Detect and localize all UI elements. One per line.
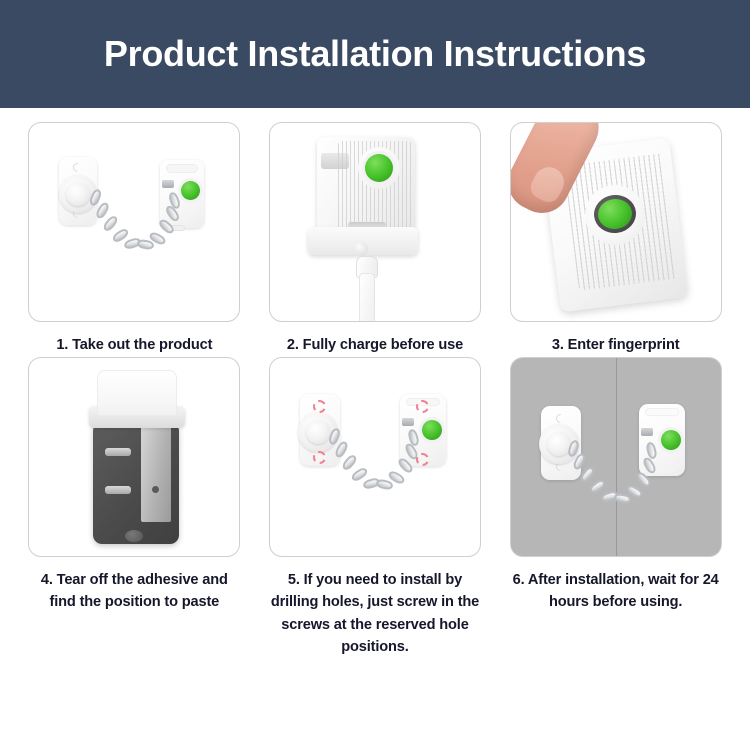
- installation-steps-grid: 1. Take out the product 2. Fully charge …: [0, 108, 750, 659]
- step-card-1: 1. Take out the product: [22, 122, 247, 357]
- mounting-prong-icon: [105, 448, 131, 456]
- plate-notch-icon: [554, 412, 567, 425]
- screw-hole-marker-icon: [416, 400, 429, 413]
- step-illustration-1: [28, 122, 240, 322]
- chain-hook-icon: [162, 180, 174, 188]
- step-illustration-5: [269, 357, 481, 557]
- step-illustration-2: [269, 122, 481, 322]
- step-illustration-4: [28, 357, 240, 557]
- charging-cable-icon: [359, 273, 375, 322]
- bracket-hole-icon: [152, 486, 159, 493]
- step-caption-6: 6. After installation, wait for 24 hours…: [509, 569, 723, 614]
- chain-link-icon: [102, 214, 120, 233]
- step-caption-3: 3. Enter fingerprint: [552, 334, 680, 357]
- step-card-3: 3. Enter fingerprint: [503, 122, 728, 357]
- step-card-2: 2. Fully charge before use: [263, 122, 488, 357]
- step-caption-1: 1. Take out the product: [56, 334, 212, 357]
- screw-hole-marker-icon: [416, 453, 429, 466]
- page-title: Product Installation Instructions: [104, 33, 646, 75]
- step-caption-5: 5. If you need to install by drilling ho…: [268, 569, 482, 659]
- step-card-4: 4. Tear off the adhesive and find the po…: [22, 357, 247, 659]
- green-fingerprint-sensor-icon: [422, 420, 442, 440]
- chain-link-icon: [588, 477, 607, 494]
- chain-link-icon: [341, 453, 359, 472]
- device-button-icon: [354, 242, 368, 256]
- plate-notch-icon: [71, 161, 84, 174]
- step-illustration-6: [510, 357, 722, 557]
- step-caption-4: 4. Tear off the adhesive and find the po…: [27, 569, 241, 614]
- adhesive-strip-peeling-icon: [97, 370, 177, 416]
- chain-hook-icon: [402, 418, 414, 426]
- door-seam-icon: [616, 358, 617, 556]
- step-card-5: 5. If you need to install by drilling ho…: [263, 357, 488, 659]
- screw-hole-marker-icon: [313, 451, 326, 464]
- step-caption-2: 2. Fully charge before use: [287, 334, 463, 357]
- lock-body-top-bar-icon: [166, 164, 198, 173]
- header-banner: Product Installation Instructions: [0, 0, 750, 108]
- step-card-6: 6. After installation, wait for 24 hours…: [503, 357, 728, 659]
- mounting-prong-icon: [105, 486, 131, 494]
- green-fingerprint-sensor-icon: [661, 430, 681, 450]
- rosette-inner-icon: [306, 420, 330, 444]
- chain-hook-icon: [641, 428, 653, 436]
- step-illustration-3: [510, 122, 722, 322]
- metal-bracket-icon: [141, 426, 171, 522]
- green-fingerprint-sensor-icon: [365, 154, 393, 182]
- lock-body-top-bar-icon: [645, 408, 679, 416]
- bottom-knob-icon: [125, 530, 143, 542]
- screw-hole-marker-icon: [313, 400, 326, 413]
